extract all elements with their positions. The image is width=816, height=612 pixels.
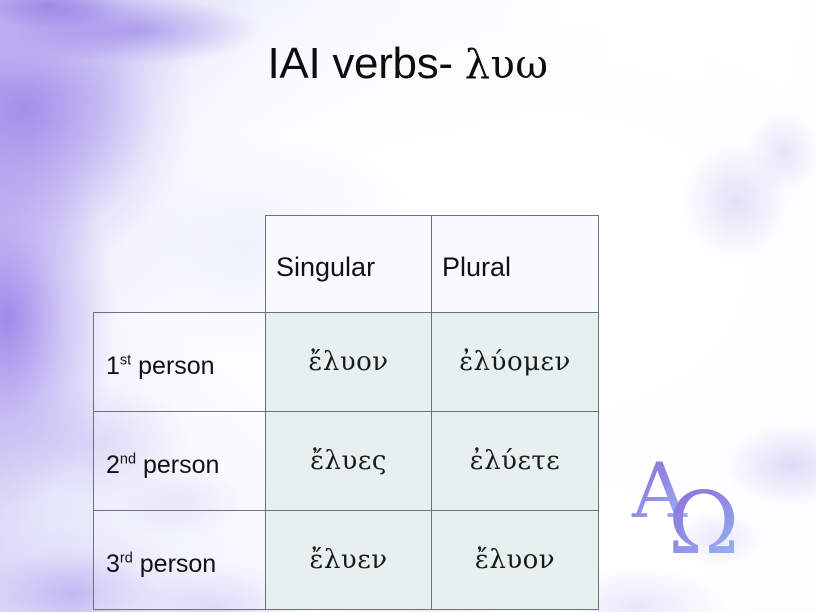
slide-title-latin: IAI verbs-: [268, 39, 465, 88]
slide-title: IAI verbs- λυω: [0, 40, 816, 88]
table-row: 3rd person ἔλυεν ἔλυον: [94, 511, 599, 610]
row-label-number: 3: [106, 550, 120, 578]
row-label-number: 1: [106, 352, 120, 380]
slide-title-greek: λυω: [465, 42, 549, 88]
row-label-third-person: 3rd person: [94, 511, 266, 610]
alpha-omega-logo: Α Ω: [630, 455, 762, 559]
table-corner-cell: [94, 216, 266, 313]
row-label-first-person: 1st person: [94, 313, 266, 412]
column-header-singular: Singular: [266, 216, 432, 313]
slide-canvas: IAI verbs- λυω Singular Plural 1st perso…: [0, 0, 816, 612]
row-label-suffix: person: [131, 352, 214, 380]
row-label-ordinal: rd: [120, 550, 133, 566]
conjugation-table: Singular Plural 1st person ἔλυον ἐλύομεν…: [93, 215, 599, 610]
verb-form-1p: ἐλύομεν: [432, 313, 599, 412]
column-header-plural: Plural: [432, 216, 599, 313]
table-row: 2nd person ἔλυες ἐλύετε: [94, 412, 599, 511]
omega-glyph: Ω: [668, 474, 739, 559]
row-label-second-person: 2nd person: [94, 412, 266, 511]
table-row: 1st person ἔλυον ἐλύομεν: [94, 313, 599, 412]
verb-form-2s: ἔλυες: [266, 412, 432, 511]
verb-form-3s: ἔλυεν: [266, 511, 432, 610]
row-label-suffix: person: [133, 550, 216, 578]
verb-form-1s: ἔλυον: [266, 313, 432, 412]
row-label-ordinal: st: [120, 352, 131, 368]
verb-form-3p: ἔλυον: [432, 511, 599, 610]
verb-form-2p: ἐλύετε: [432, 412, 599, 511]
table-header-row: Singular Plural: [94, 216, 599, 313]
row-label-number: 2: [106, 451, 120, 479]
row-label-ordinal: nd: [120, 451, 136, 467]
row-label-suffix: person: [136, 451, 219, 479]
